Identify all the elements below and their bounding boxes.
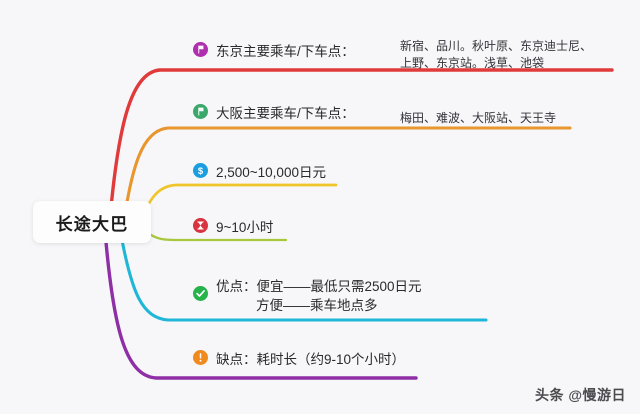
topic-price[interactable]: $ 2,500~10,000日元 [193, 163, 326, 182]
topic-label: 缺点：耗时长（约9-10个小时） [216, 350, 405, 369]
money-icon: $ [193, 163, 208, 178]
svg-text:$: $ [198, 166, 204, 177]
topic-label: 9~10小时 [216, 218, 273, 237]
topic-label-line2: 方便——乘车地点多 [216, 296, 422, 315]
topic-label: 优点：便宜——最低只需2500日元 [216, 279, 422, 294]
check-circle-icon [193, 286, 208, 301]
warning-icon [193, 350, 208, 365]
topic-cons[interactable]: 缺点：耗时长（约9-10个小时） [193, 350, 405, 369]
root-node-label: 长途大巴 [56, 210, 129, 235]
mindmap-canvas: 长途大巴 东京主要乘车/下车点： 新宿、品川。秋叶原、东京迪士尼、 上野、东京站… [0, 0, 640, 414]
branch-line-price [140, 185, 336, 222]
topic-tokyo-stops[interactable]: 东京主要乘车/下车点： [193, 42, 355, 61]
branch-line-tokyo [110, 70, 612, 218]
detail-line-1: 新宿、品川。秋叶原、东京迪士尼、 [400, 39, 592, 53]
detail-tokyo-stops: 新宿、品川。秋叶原、东京迪士尼、 上野、东京站。浅草、池袋 [400, 38, 592, 72]
topic-duration[interactable]: 9~10小时 [193, 218, 273, 237]
detail-osaka-stops: 梅田、难波、大阪站、天王寺 [400, 110, 556, 127]
detail-line-1: 梅田、难波、大阪站、天王寺 [400, 111, 556, 125]
hourglass-icon [193, 218, 208, 233]
topic-label: 2,500~10,000日元 [216, 163, 326, 182]
location-pin-icon [193, 42, 208, 57]
location-pin-icon [193, 104, 208, 119]
watermark: 头条 @慢游日 [535, 385, 626, 405]
topic-label-block: 优点：便宜——最低只需2500日元 方便——乘车地点多 [216, 277, 422, 315]
topic-label: 东京主要乘车/下车点： [216, 42, 355, 61]
root-node[interactable]: 长途大巴 [33, 201, 151, 243]
topic-label: 大阪主要乘车/下车点： [216, 104, 355, 123]
detail-line-2: 上野、东京站。浅草、池袋 [400, 56, 544, 70]
topic-pros[interactable]: 优点：便宜——最低只需2500日元 方便——乘车地点多 [193, 277, 422, 315]
topic-osaka-stops[interactable]: 大阪主要乘车/下车点： [193, 104, 355, 123]
branch-line-osaka [124, 128, 570, 220]
